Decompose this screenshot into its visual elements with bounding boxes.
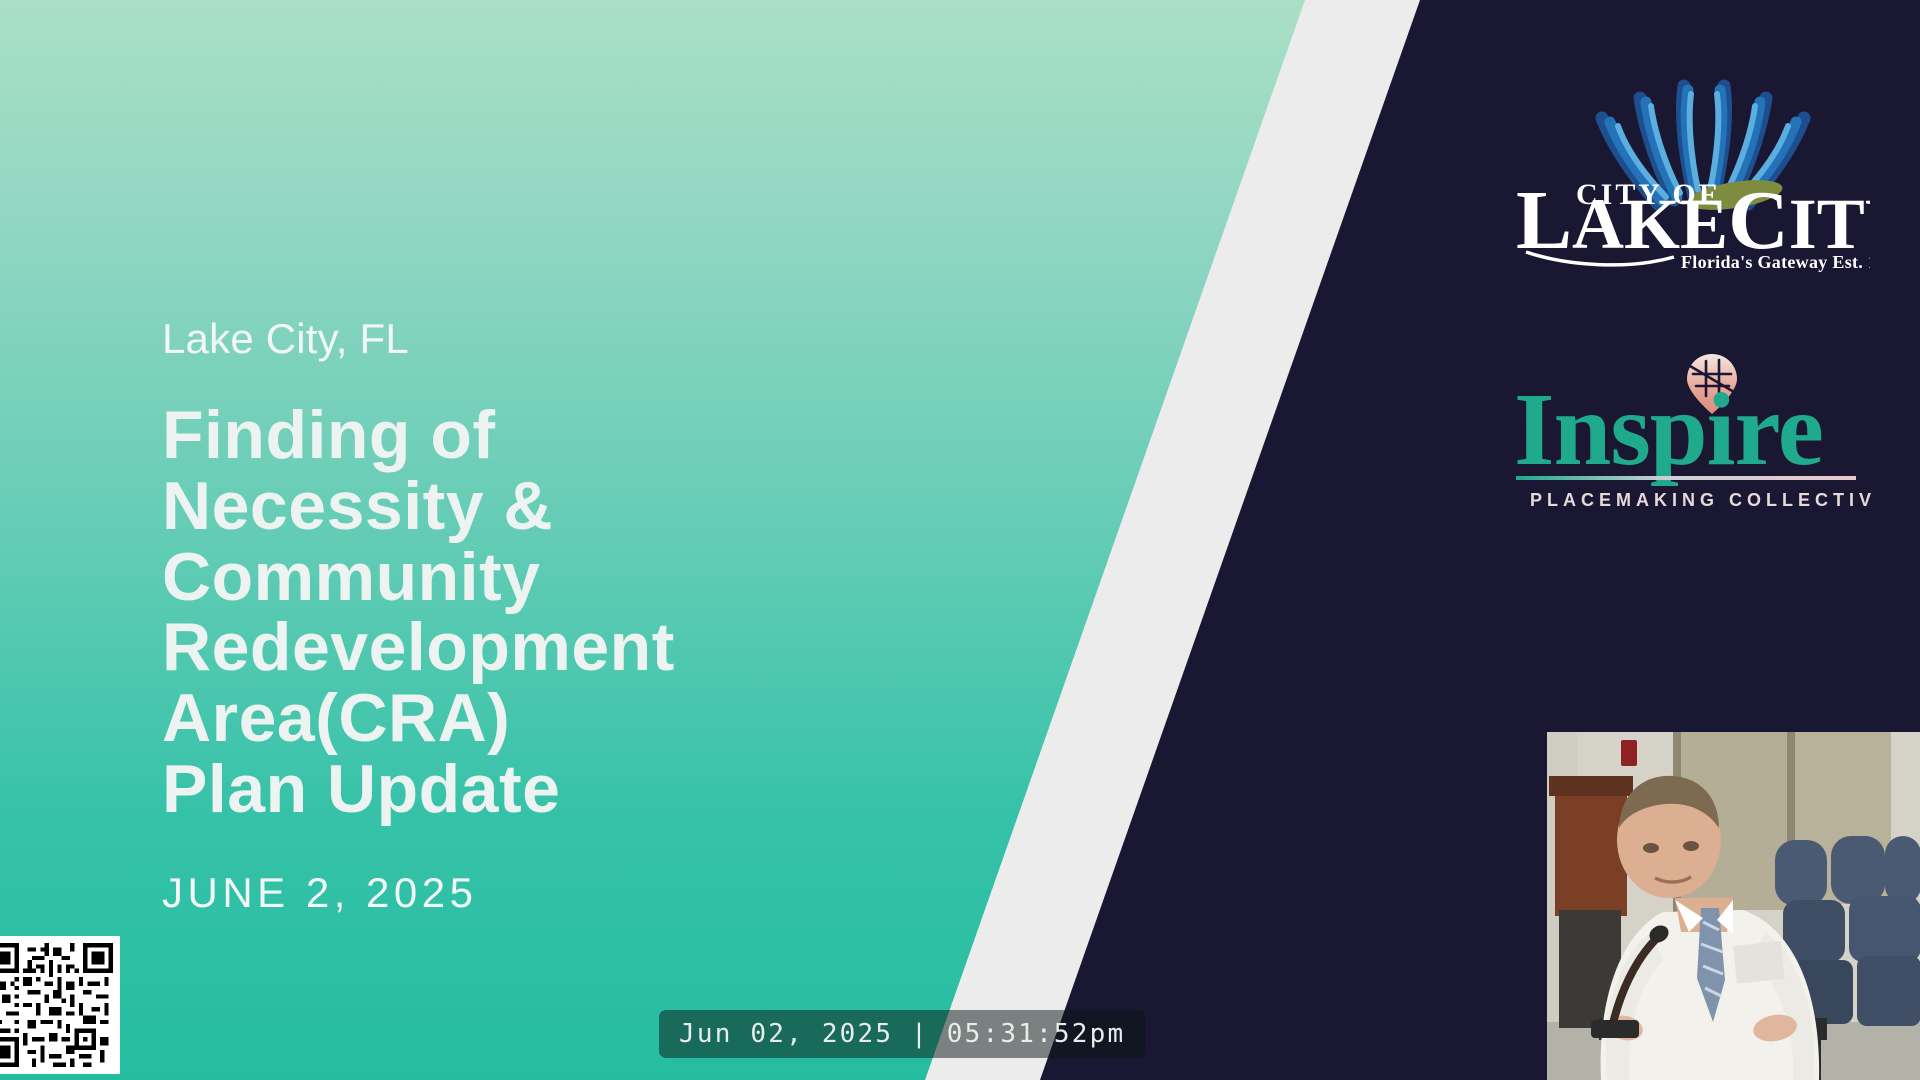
slide-eyebrow: Lake City, FL [162,316,942,362]
qr-code-graphic [0,943,113,1067]
inspire-wordmark: Inspire [1514,372,1823,487]
slide-text-block: Lake City, FL Finding of Necessity & Com… [162,316,942,917]
inspire-rule [1516,476,1856,480]
speaker-video-inset[interactable] [1547,732,1920,1080]
inspire-placemaking-logo: Inspire PLACEMAKING COLLECTIVE [1500,348,1872,516]
city-of-lake-city-logo: CITY OF LAKECITY Florida's Gateway Est. … [1498,52,1870,274]
slide-date: JUNE 2, 2025 [162,869,942,917]
timestamp-overlay: Jun 02, 2025 | 05:31:52pm [659,1010,1145,1058]
city-logo-tagline: Florida's Gateway Est. 1859 [1681,252,1870,272]
inspire-tagline: PLACEMAKING COLLECTIVE [1530,490,1872,510]
video-frame [1547,732,1920,1080]
screenshot-root: Lake City, FL Finding of Necessity & Com… [0,0,1920,1080]
city-logo-graphic: CITY OF LAKECITY Florida's Gateway Est. … [1498,52,1870,274]
inspire-logo-graphic: Inspire PLACEMAKING COLLECTIVE [1500,348,1872,516]
slide-headline: Finding of Necessity & Community Redevel… [162,400,942,824]
qr-code[interactable] [0,936,120,1074]
